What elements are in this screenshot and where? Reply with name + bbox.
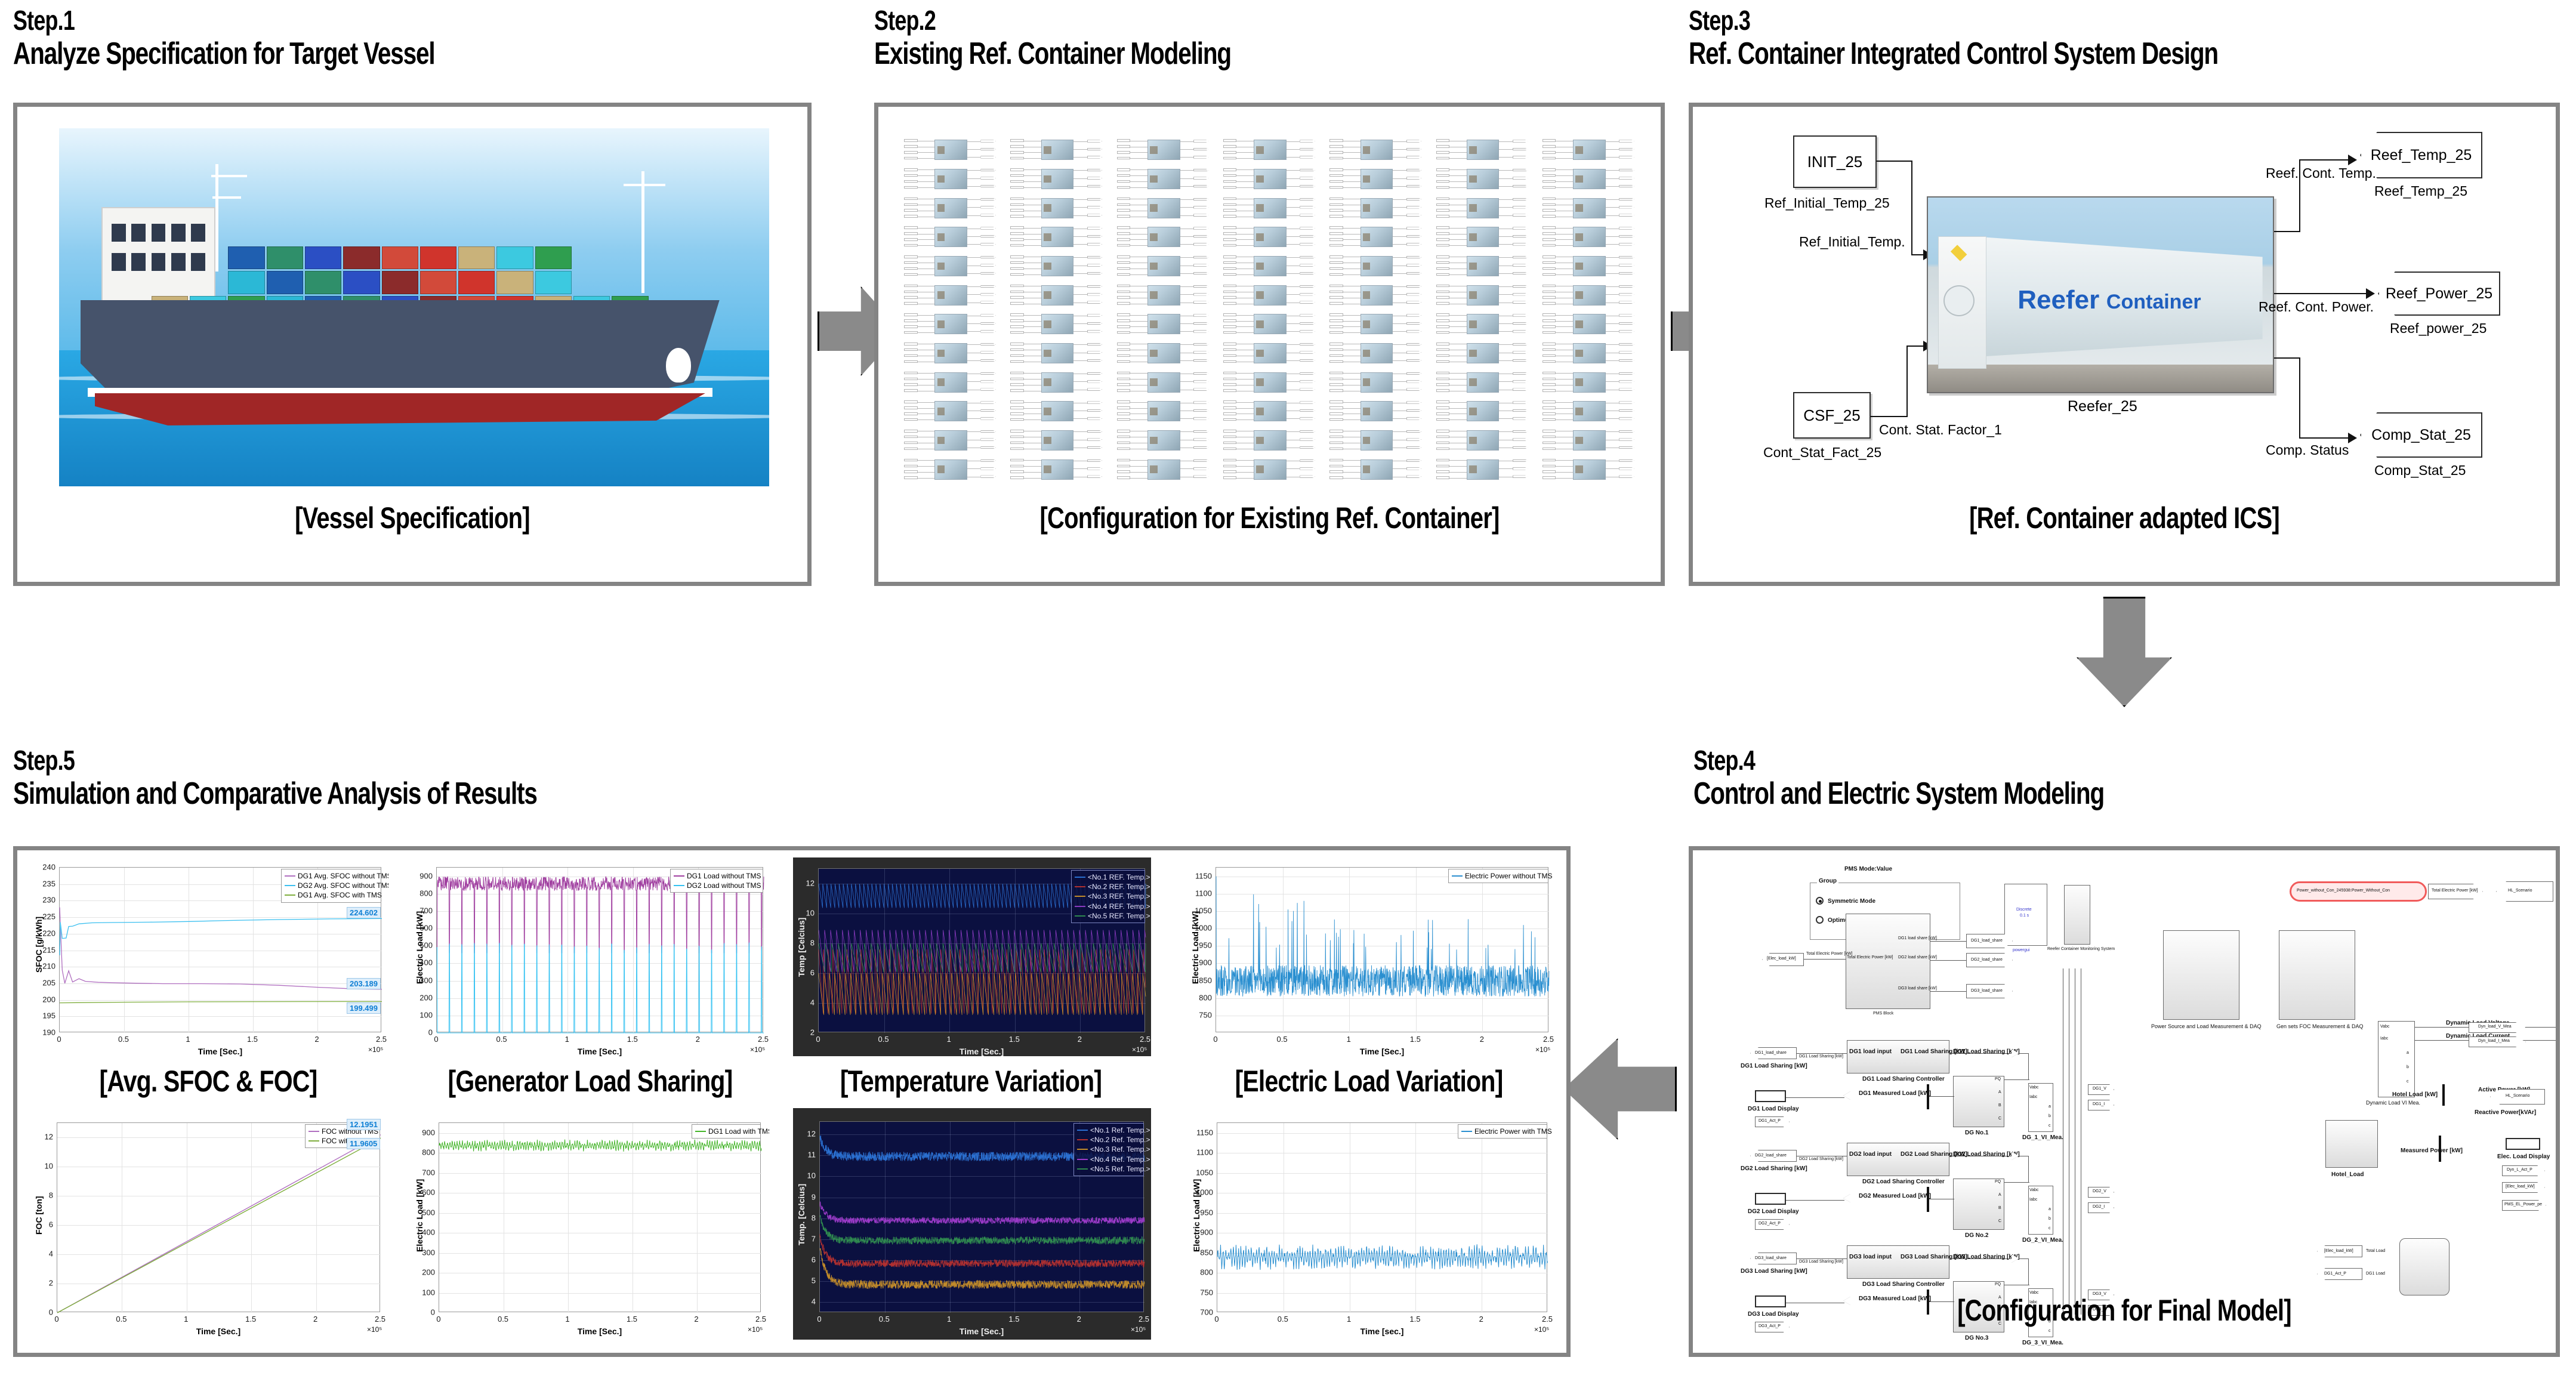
wire-comp-v [2299, 357, 2300, 439]
reefer-inport [1223, 412, 1236, 415]
x-tick-label: 0.5 [496, 1035, 507, 1044]
reefer-model-unit[interactable] [1115, 253, 1211, 280]
radio-symmetric-mode[interactable] [1816, 897, 1824, 905]
reefer-model-unit[interactable] [1221, 166, 1317, 193]
reefer-in-wire [1024, 466, 1041, 467]
reefer-model-unit[interactable] [1115, 427, 1211, 454]
reefer-model-unit[interactable] [902, 311, 998, 338]
x-tick-label: 1.5 [1009, 1035, 1020, 1044]
reefer-model-unit[interactable] [1541, 253, 1636, 280]
reefer-in-wire [1449, 332, 1467, 333]
reefer-model-unit[interactable] [1115, 311, 1211, 338]
reefer-inport [1436, 291, 1449, 293]
reefer-model-unit[interactable] [902, 398, 998, 425]
reefer-in-wire [1236, 228, 1254, 229]
reefer-model-unit[interactable] [1434, 311, 1529, 338]
gensets-foc-daq-block[interactable] [2279, 930, 2355, 1020]
reefer-out-wire [1073, 431, 1087, 432]
reef-temp-25-outport[interactable]: Reef_Temp_25 [2360, 132, 2482, 178]
reefer-out-wire [1606, 244, 1619, 245]
reefer-inport [1542, 319, 1556, 322]
chart-dg1-load-with-tms[interactable]: 00.511.522.50100200300400500600700800900… [411, 1107, 769, 1340]
reefer-model-unit[interactable] [1328, 224, 1423, 251]
reefer-model-unit[interactable] [1328, 166, 1423, 193]
reefer-in-wire [1449, 263, 1467, 263]
reefer-in-wire [918, 269, 935, 269]
elec-load-display[interactable] [2506, 1138, 2540, 1150]
dg-load-sharing-controller[interactable] [1847, 1143, 1949, 1176]
reefer-outport [1087, 401, 1103, 403]
reefer-inport [1329, 442, 1343, 444]
reefer-in-wire [918, 414, 935, 414]
powergui-text2: 0.1 s [2020, 914, 2029, 918]
reefer-model-unit[interactable] [1221, 398, 1317, 425]
reefer-outport [1193, 272, 1209, 274]
reefer-thumb [1254, 372, 1287, 393]
reefer-model-unit[interactable] [1008, 282, 1104, 309]
reefer-model-unit[interactable] [1115, 137, 1211, 164]
reefer-model-unit[interactable] [1008, 398, 1104, 425]
reefer-model-unit[interactable] [1541, 137, 1636, 164]
dyn-a-port: a [2407, 1051, 2409, 1055]
reefer-model-unit[interactable] [1221, 253, 1317, 280]
reefer-model-unit[interactable] [1541, 340, 1636, 367]
comp-stat-25-name: Comp_Stat_25 [2371, 427, 2471, 444]
reefer-outport [1513, 227, 1528, 229]
dg-pq-port: PQ [1995, 1077, 2001, 1081]
dg-ctrl-caption: DG3 Load Sharing Controller [1862, 1281, 1945, 1288]
reefer-inport [1223, 151, 1236, 153]
reefer-in-wire [1236, 234, 1254, 235]
reefer-model-unit[interactable] [1328, 369, 1423, 396]
reefer-in-wire [1449, 460, 1467, 461]
reefer-out-wire [1393, 431, 1406, 432]
hotel-load-block[interactable] [2325, 1120, 2378, 1168]
reefer-outport [1300, 372, 1315, 375]
reefer-outport [1300, 446, 1315, 449]
init25-block[interactable]: INIT_25 [1793, 135, 1877, 188]
reefer-model-unit[interactable] [1008, 195, 1104, 221]
reefer-model-unit[interactable] [1434, 340, 1529, 367]
reefer-outport [1513, 467, 1528, 470]
reefer-out-wire [1606, 316, 1619, 316]
y-tick-label: 6 [810, 968, 815, 977]
reefer-model-unit[interactable] [902, 166, 998, 193]
chart-legend[interactable]: Electric Power without TMS [1448, 869, 1548, 883]
chart-legend[interactable]: DG1 Load without TMSDG2 Load without TMS [670, 869, 763, 893]
reefer-in-wire [1343, 443, 1361, 443]
x-tick-label: 0 [57, 1035, 61, 1044]
reefer-model-unit[interactable] [1008, 137, 1104, 164]
reefer-outport [1193, 293, 1209, 295]
reefer-thumb [1361, 198, 1393, 218]
reefer-outport [980, 264, 996, 266]
reefer-model-unit[interactable] [1008, 427, 1104, 454]
reefer-model-unit[interactable] [1008, 456, 1104, 483]
reefer-out-wire [1393, 207, 1406, 208]
dg-load-sharing-controller[interactable] [1847, 1245, 1949, 1279]
reefer-outport [1513, 256, 1528, 258]
reefer-model-unit[interactable] [1328, 311, 1423, 338]
reefer-in-wire [1449, 269, 1467, 269]
chart-legend[interactable]: <No.1 Ref. Temp.><No.2 Ref. Temp.><No.3 … [1073, 1123, 1144, 1176]
reefer-out-wire [1393, 331, 1406, 332]
x-axis-exponent: ×10⁵ [1132, 1045, 1147, 1054]
reefer-in-wire [918, 449, 935, 449]
chart-temperature-variation-without-tms[interactable]: 00.511.522.524681012Time [Sec.]Temp [Cel… [793, 857, 1151, 1056]
legend-row: <No.5 REF. Temp.> [1075, 911, 1142, 921]
reefer-inport [1117, 325, 1130, 328]
dg-generator-block[interactable] [1953, 1076, 2004, 1127]
reefer-thumb [1147, 227, 1180, 247]
reefer-outport [1619, 467, 1634, 470]
reefer-model-unit[interactable] [902, 195, 998, 221]
reefer-model-unit[interactable] [1328, 456, 1423, 483]
reefer-in-wire [1130, 257, 1147, 257]
reefer-model-unit[interactable] [1434, 398, 1529, 425]
reefer-out-wire [1499, 418, 1512, 419]
reefer-model-unit[interactable] [1541, 456, 1636, 483]
reefer-thumb [1467, 198, 1499, 218]
reefer-model-unit[interactable] [1541, 224, 1636, 251]
pms-out3-wire [1930, 991, 1967, 992]
reefer-inport [1542, 157, 1556, 159]
reefer-in-wire [1556, 286, 1573, 286]
reefer-inport [1223, 476, 1236, 479]
reefer-model-unit[interactable] [1434, 224, 1529, 251]
reefer-model-unit[interactable] [1541, 369, 1636, 396]
legend-swatch [1077, 1159, 1088, 1160]
reefer-out-wire [967, 170, 980, 171]
dg-load-display[interactable] [1755, 1193, 1786, 1205]
reefer-in-wire [1236, 419, 1254, 420]
chart-legend[interactable]: DG1 Load with TMS [692, 1124, 761, 1139]
cargo-container [573, 271, 610, 294]
reefer-in-wire [918, 466, 935, 467]
reefer-model-unit[interactable] [1008, 340, 1104, 367]
reefer-inport [1223, 348, 1236, 351]
reefer-model-unit[interactable] [902, 369, 998, 396]
reefer-in-wire [1556, 274, 1573, 275]
reefer-model-unit[interactable] [1008, 166, 1104, 193]
reefer-model-unit[interactable] [1541, 427, 1636, 454]
pms-block[interactable] [1846, 914, 1930, 1009]
reefer-model-unit[interactable] [1434, 427, 1529, 454]
chart-temperature-variation-with-tms[interactable]: 00.511.522.5456789101112Time [Sec.]Temp.… [793, 1108, 1151, 1340]
reefer-inport [1223, 465, 1236, 467]
reefer-container-photo[interactable]: Reefer Container [1927, 196, 2274, 393]
reefer-inport [904, 215, 917, 217]
reefer-model-unit[interactable] [1115, 195, 1211, 221]
reefer-outport [1406, 351, 1422, 353]
power-source-daq-block[interactable] [2163, 930, 2239, 1020]
reefer-inport [904, 442, 917, 444]
reefer-in-wire [1343, 350, 1361, 350]
reefer-inport [1223, 343, 1236, 345]
reefer-in-wire [1024, 431, 1041, 431]
reefer-in-wire [1449, 228, 1467, 229]
reefer-out-wire [1606, 353, 1619, 353]
reefer-model-unit[interactable] [1541, 311, 1636, 338]
reefer-inport [1329, 198, 1343, 200]
dg-in-wire-label: DG3 Load Sharing [kW] [1799, 1260, 1843, 1264]
chart-avg-sfoc[interactable]: 00.511.522.51901952002052102152202252302… [30, 856, 388, 1056]
reefer-model-unit[interactable] [1221, 369, 1317, 396]
dg-gain-triangle [2012, 1049, 2019, 1057]
bottom-scope-block[interactable] [2399, 1238, 2449, 1295]
reefer-model-unit[interactable] [1115, 340, 1211, 367]
x-tick-label: 2 [696, 1035, 700, 1044]
reefer-outport [1087, 372, 1103, 375]
reefer-outport [1300, 475, 1315, 477]
chart-electric-load-variation-with-tms[interactable]: 00.511.522.57007508008509009501000105011… [1187, 1107, 1557, 1340]
reefer-in-wire [1236, 460, 1254, 461]
series-path [60, 918, 382, 955]
reefer-inport [1117, 145, 1130, 147]
reefer-model-unit[interactable] [1328, 253, 1423, 280]
dg1-load-share-outlabel: DG1_load_share [1971, 939, 2003, 943]
reefer-model-unit[interactable] [1328, 195, 1423, 221]
reefer-inport [1223, 448, 1236, 450]
reefer-model-unit[interactable] [1434, 282, 1529, 309]
reefer-model-unit[interactable] [1115, 369, 1211, 396]
reefer-model-unit[interactable] [1434, 166, 1529, 193]
reefer-outport [1300, 388, 1315, 390]
reefer-in-wire [918, 181, 935, 182]
reefer-inport [1436, 186, 1449, 189]
reefer-model-unit[interactable] [1008, 311, 1104, 338]
reefer-outport [1619, 243, 1634, 245]
reefer-model-unit[interactable] [1541, 398, 1636, 425]
reefer-outport [1513, 417, 1528, 419]
reefer-outport [980, 467, 996, 470]
reefer-inport [1117, 412, 1130, 415]
arrowhead-comp [2348, 433, 2357, 443]
reefer-model-unit[interactable] [1328, 427, 1423, 454]
comp-stat-25-outport[interactable]: Comp_Stat_25 [2360, 412, 2482, 458]
reefer-model-unit[interactable] [1541, 195, 1636, 221]
reefer-model-unit[interactable] [1221, 137, 1317, 164]
reefer-out-wire [1499, 440, 1512, 440]
reefer-outport [1406, 438, 1422, 440]
dynamic-load-vi-block[interactable] [2378, 1021, 2415, 1097]
reefer-inport [1010, 418, 1023, 421]
x-tick-label: 0.5 [1278, 1315, 1288, 1324]
x-tick-label: 0.5 [879, 1315, 890, 1324]
reefer-inport [904, 209, 917, 211]
reefer-inport [1117, 157, 1130, 159]
reefer-out-wire [967, 286, 980, 287]
x-tick-label: 2.5 [755, 1315, 766, 1324]
reefer-outport [1513, 351, 1528, 353]
y-tick-label: 235 [42, 879, 55, 888]
reefer-model-unit[interactable] [1434, 456, 1529, 483]
reefer-in-wire [1556, 187, 1573, 188]
reefer-inport [1010, 232, 1023, 235]
reefer-out-wire [1073, 294, 1087, 295]
reefer-inport [904, 285, 917, 287]
reefer-inport [904, 436, 917, 438]
legend-row: <No.3 Ref. Temp.> [1077, 1145, 1140, 1154]
reefer-model-unit[interactable] [1008, 369, 1104, 396]
reefer-outport [1087, 475, 1103, 477]
reefer-in-wire [1449, 158, 1467, 159]
reefer-in-wire [1343, 356, 1361, 356]
radio-optimum-reef-mode[interactable] [1816, 916, 1824, 924]
dg-ctrl-caption: DG1 Load Sharing Controller [1862, 1076, 1945, 1082]
three-phase-bus-line [2069, 968, 2069, 1315]
reefer-inport [1329, 325, 1343, 328]
dg-load-display[interactable] [1755, 1090, 1786, 1102]
reefer-in-wire [918, 169, 935, 170]
legend-label: DG1 Avg. SFOC with TMS [298, 890, 382, 900]
reefer-out-wire [1073, 199, 1087, 200]
reefer-model-unit[interactable] [1115, 224, 1211, 251]
reef-power-25-outport[interactable]: Reef_Power_25 [2378, 272, 2500, 316]
reefer-model-unit[interactable] [1221, 456, 1317, 483]
reefer-model-unit[interactable] [1434, 195, 1529, 221]
dg-generator-block[interactable] [1953, 1179, 2004, 1230]
y-tick-label: 10 [807, 1171, 816, 1180]
reefer-out-wire [1180, 186, 1193, 187]
reefer-thumb [934, 198, 967, 218]
chart-generator-load-sharing[interactable]: 00.511.522.50100200300400500600700800900… [411, 856, 769, 1056]
reefer-model-unit[interactable] [1434, 253, 1529, 280]
reefer-model-unit[interactable] [1115, 282, 1211, 309]
reefer-out-wire [1073, 411, 1087, 411]
reefer-model-unit[interactable] [902, 224, 998, 251]
x-tick-label: 2.5 [1543, 1035, 1554, 1044]
reefer-thumb [1467, 140, 1499, 160]
chart-electric-load-variation-without-tms[interactable]: 00.511.522.57508008509009501000105011001… [1187, 856, 1557, 1056]
reefer-outport [980, 343, 996, 345]
reefer-model-unit[interactable] [1221, 282, 1317, 309]
reefer-model-unit[interactable] [1221, 224, 1317, 251]
reefer-in-wire [918, 460, 935, 461]
reefer-model-unit[interactable] [1115, 166, 1211, 193]
reefer-model-unit[interactable] [1115, 456, 1211, 483]
reefer-model-unit[interactable] [902, 427, 998, 454]
reefer-model-unit[interactable] [1328, 398, 1423, 425]
reefer-in-wire [918, 234, 935, 235]
reefer-outport [980, 475, 996, 477]
reefer-model-unit[interactable] [1328, 282, 1423, 309]
reefer-model-unit[interactable] [1328, 137, 1423, 164]
reefer-inport [1010, 180, 1023, 183]
csf25-block[interactable]: CSF_25 [1793, 392, 1871, 439]
group-label: Group [1817, 878, 1838, 884]
chart-foc[interactable]: 00.511.522.5024681012Time [Sec.]FOC [ton… [30, 1107, 388, 1340]
reefer-out-wire [1180, 207, 1193, 208]
legend-label: <No.4 Ref. Temp.> [1090, 1155, 1150, 1164]
reefer-model-unit[interactable] [1434, 137, 1529, 164]
reefer-model-unit[interactable] [902, 253, 998, 280]
reefer-out-wire [1180, 381, 1193, 382]
reefer-model-unit[interactable] [902, 137, 998, 164]
chart-legend[interactable]: <No.1 REF. Temp.><No.2 REF. Temp.><No.3 … [1071, 870, 1145, 923]
reefer-outport [980, 438, 996, 440]
dg-load-sharing-controller[interactable] [1847, 1040, 1949, 1073]
reefer-inport [904, 157, 917, 159]
y-tick-label: 900 [1200, 1228, 1213, 1237]
reefer-thumb [1041, 459, 1073, 480]
reefer-in-wire [1449, 147, 1467, 147]
reefer-inport [1010, 343, 1023, 345]
reefer-model-unit[interactable] [902, 456, 998, 483]
reefer-inport [1329, 470, 1343, 473]
reefer-model-unit[interactable] [1328, 340, 1423, 367]
reefer-model-unit[interactable] [1221, 195, 1317, 221]
reefer-model-unit[interactable] [1008, 224, 1104, 251]
reefer-in-wire [1236, 408, 1254, 409]
reefer-outport [1300, 467, 1315, 470]
chart-legend[interactable]: Electric Power with TMS [1458, 1124, 1547, 1139]
reefer-outport [1406, 446, 1422, 449]
reefer-out-wire [1073, 440, 1087, 440]
reefer-thumb [1573, 169, 1606, 189]
reefer-model-unit[interactable] [902, 340, 998, 367]
reefer-model-unit[interactable] [1541, 166, 1636, 193]
reefer-in-wire [918, 373, 935, 374]
reefer-inport [1117, 302, 1130, 304]
reefer-outport [1513, 330, 1528, 332]
chart-legend[interactable]: DG1 Avg. SFOC without TMSDG2 Avg. SFOC w… [281, 869, 381, 903]
reefer-out-wire [1287, 186, 1300, 187]
reefer-out-wire [1393, 390, 1406, 390]
reefer-in-wire [1130, 263, 1147, 263]
reefer-in-wire [1449, 437, 1467, 437]
reef-temp-25-sublabel: Reef_Temp_25 [2374, 183, 2467, 199]
reefer-model-unit[interactable] [1221, 427, 1317, 454]
reefer-model-unit[interactable] [1115, 398, 1211, 425]
y-tick-label: 850 [1199, 976, 1212, 985]
reefer-in-wire [1449, 217, 1467, 217]
reefer-in-wire [1130, 362, 1147, 362]
dg-i-outport-label: DG2_I [2093, 1205, 2105, 1209]
legend-row: <No.4 REF. Temp.> [1075, 902, 1142, 911]
reefer-model-unit[interactable] [1541, 282, 1636, 309]
reefer-thumb [1147, 256, 1180, 276]
reefer-model-unit[interactable] [1221, 311, 1317, 338]
reefer-in-wire [1556, 321, 1573, 322]
reefer-in-wire [1024, 228, 1041, 229]
reefer-monitoring-block[interactable] [2064, 885, 2090, 945]
reefer-inport [904, 319, 917, 322]
reefer-inport [1436, 354, 1449, 357]
legend-row: DG1 Avg. SFOC with TMS [285, 890, 378, 900]
y-tick-label: 205 [42, 978, 55, 987]
legend-row: DG1 Load with TMS [695, 1127, 757, 1136]
reefer-out-wire [1287, 273, 1300, 274]
dg-vi-label: DG_2_VI_Mea. [2022, 1237, 2063, 1244]
dg-vabc-port: Vabc [2029, 1188, 2038, 1192]
reefer-model-unit[interactable] [902, 282, 998, 309]
reefer-model-unit[interactable] [1434, 369, 1529, 396]
reefer-thumb [1361, 256, 1393, 276]
dg-vi-label: DG_1_VI_Mea. [2022, 1134, 2063, 1141]
reefer-inport [904, 186, 917, 189]
reefer-out-wire [1393, 157, 1406, 158]
legend-label: Electric Power without TMS [1465, 871, 1553, 881]
caption-temperature-variation: [Temperature Variation] [815, 1064, 1128, 1099]
reefer-model-unit[interactable] [1008, 253, 1104, 280]
legend-label: <No.3 Ref. Temp.> [1090, 1145, 1150, 1154]
legend-swatch [674, 875, 684, 877]
reefer-inport [1117, 285, 1130, 287]
reefer-inport [904, 325, 917, 328]
reefer-outport [1619, 156, 1634, 158]
reefer-model-unit[interactable] [1221, 340, 1317, 367]
